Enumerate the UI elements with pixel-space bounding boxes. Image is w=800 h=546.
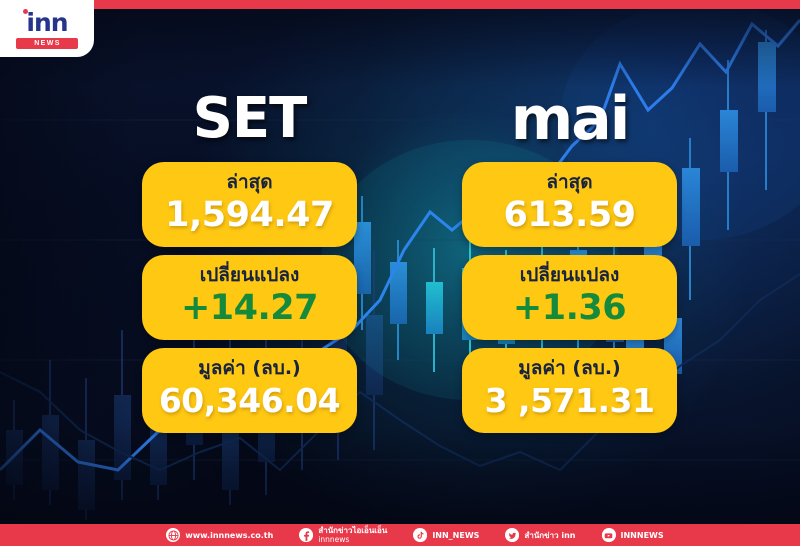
logo-word-text: inn [26,8,67,37]
stat-label: มูลค่า (ลบ.) [468,356,671,380]
stat-value: 613.59 [468,194,671,236]
footer-twitter-text: สำนักข่าว inn [524,531,575,540]
stat-value: 60,346.04 [148,380,351,422]
stat-card-set-value: มูลค่า (ลบ.) 60,346.04 [142,348,357,433]
stat-label: เปลี่ยนแปลง [148,263,351,287]
footer-item-website[interactable]: www.innnews.co.th [166,528,273,542]
footer-website-text: www.innnews.co.th [185,531,273,540]
stat-value: 1,594.47 [148,194,351,236]
globe-icon [166,528,180,542]
footer-item-youtube[interactable]: INNNEWS [602,528,664,542]
logo-news-badge: NEWS [16,38,78,49]
top-accent-bar [0,0,800,9]
logo-wordmark: inn [16,10,78,36]
stock-summary-graphic: inn NEWS SET ล่าสุด 1,594.47 เปลี่ยนแปลง… [0,0,800,546]
twitter-icon [505,528,519,542]
footer-item-facebook[interactable]: สำนักข่าวไอเอ็นเอ็น innnews [299,526,387,544]
footer-social-bar: www.innnews.co.th สำนักข่าวไอเอ็นเอ็น in… [0,524,800,546]
youtube-icon [602,528,616,542]
footer-youtube-text: INNNEWS [621,531,664,540]
market-column-set: SET ล่าสุด 1,594.47 เปลี่ยนแปลง +14.27 ม… [142,88,357,441]
tiktok-icon [413,528,427,542]
market-title-set: SET [142,88,357,150]
stat-value: +1.36 [468,287,671,329]
footer-facebook-text: สำนักข่าวไอเอ็นเอ็น innnews [318,526,387,544]
footer-item-twitter[interactable]: สำนักข่าว inn [505,528,575,542]
footer-facebook-line1: สำนักข่าวไอเอ็นเอ็น [318,526,387,535]
background-artwork [0,0,800,546]
market-column-mai: mai ล่าสุด 613.59 เปลี่ยนแปลง +1.36 มูลค… [462,88,677,441]
stat-card-mai-change: เปลี่ยนแปลง +1.36 [462,255,677,340]
background-vignette [0,0,800,546]
footer-tiktok-text: INN_NEWS [432,531,479,540]
facebook-icon [299,528,313,542]
stat-card-set-change: เปลี่ยนแปลง +14.27 [142,255,357,340]
stat-label: ล่าสุด [468,170,671,194]
stat-value: 3 ,571.31 [468,380,671,422]
stat-card-mai-value: มูลค่า (ลบ.) 3 ,571.31 [462,348,677,433]
footer-item-tiktok[interactable]: INN_NEWS [413,528,479,542]
footer-facebook-line2: innnews [318,535,387,544]
logo-dot-icon [23,9,28,14]
stat-label: เปลี่ยนแปลง [468,263,671,287]
stat-label: มูลค่า (ลบ.) [148,356,351,380]
stat-value: +14.27 [148,287,351,329]
inn-news-logo: inn NEWS [0,0,94,57]
stat-label: ล่าสุด [148,170,351,194]
market-title-mai: mai [462,88,677,150]
stat-card-set-last: ล่าสุด 1,594.47 [142,162,357,247]
stat-card-mai-last: ล่าสุด 613.59 [462,162,677,247]
